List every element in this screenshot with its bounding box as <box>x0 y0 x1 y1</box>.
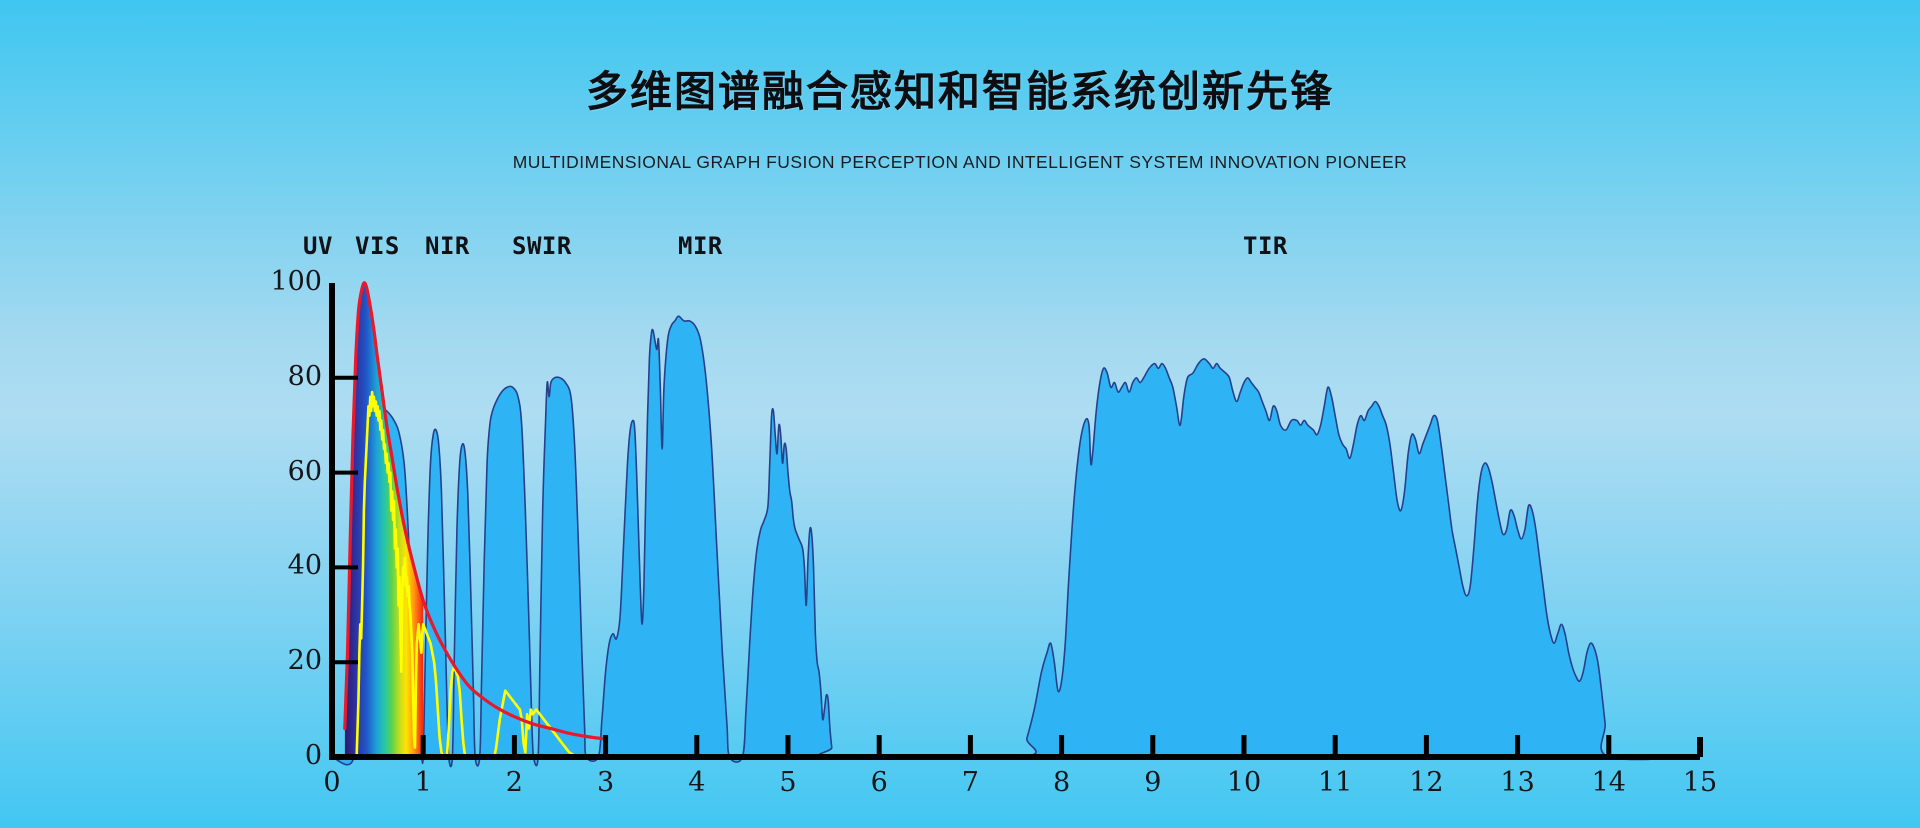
x-tick-label: 15 <box>1676 767 1724 798</box>
x-tick-label: 7 <box>946 767 994 798</box>
transmission-area <box>332 316 1700 766</box>
y-tick-label: 100 <box>262 266 322 297</box>
x-tick-label: 0 <box>308 767 356 798</box>
y-tick-label: 20 <box>262 645 322 676</box>
x-tick-label: 11 <box>1311 767 1359 798</box>
x-tick-label: 5 <box>764 767 812 798</box>
x-tick-label: 12 <box>1402 767 1450 798</box>
y-tick-label: 60 <box>262 456 322 487</box>
x-tick-label: 13 <box>1494 767 1542 798</box>
x-tick-label: 8 <box>1038 767 1086 798</box>
transmission-area-group <box>332 316 1700 766</box>
x-tick-label: 10 <box>1220 767 1268 798</box>
spectrum-chart <box>0 0 1920 828</box>
x-tick-label: 14 <box>1585 767 1633 798</box>
poster-canvas: 多维图谱融合感知和智能系统创新先锋 MULTIDIMENSIONAL GRAPH… <box>0 0 1920 828</box>
x-tick-label: 2 <box>490 767 538 798</box>
x-tick-label: 4 <box>673 767 721 798</box>
y-tick-label: 80 <box>262 361 322 392</box>
y-tick-label: 40 <box>262 550 322 581</box>
x-tick-label: 9 <box>1129 767 1177 798</box>
x-tick-label: 1 <box>399 767 447 798</box>
x-tick-label: 6 <box>855 767 903 798</box>
x-tick-label: 3 <box>582 767 630 798</box>
